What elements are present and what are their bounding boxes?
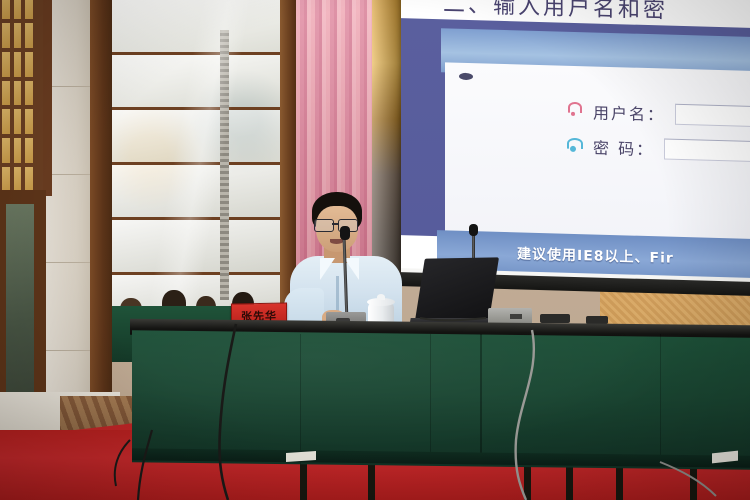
wall-pilaster [46, 0, 90, 420]
glass-partition-wall [112, 0, 280, 320]
microphone-head [340, 226, 350, 240]
skirt-fold [300, 334, 301, 464]
door-glass [6, 204, 34, 404]
wood-mullion-left [90, 0, 112, 430]
skirt-drape-edge [480, 334, 482, 454]
teacup-knob [377, 294, 385, 300]
password-field-row: 密 码： [563, 134, 750, 165]
photo-scene: 二、输入用户名和密 用户名： 密 码： 建议使用IE8以上、Fir [0, 0, 750, 500]
username-label: 用户名： [593, 99, 665, 125]
lattice-grid [2, 0, 33, 192]
slide-content: 二、输入用户名和密 用户名： 密 码： 建议使用IE8以上、Fir [401, 0, 750, 287]
speaker-collar-left [320, 258, 335, 280]
skirt-fold [430, 334, 431, 464]
username-input[interactable] [675, 103, 750, 128]
password-label: 密 码： [593, 134, 654, 160]
browser-recommendation-note: 建议使用IE8以上、Fir [517, 243, 674, 267]
laptop-screen [415, 257, 499, 320]
panel-bullet-icon [459, 73, 473, 80]
username-field-row: 用户名： [563, 99, 750, 130]
tabletop-object [540, 314, 570, 323]
microphone-head-second [469, 224, 478, 236]
lock-icon [563, 137, 583, 156]
glasses-icon [313, 219, 361, 230]
skirt-fold [660, 334, 661, 464]
password-input[interactable] [664, 138, 750, 163]
glass-glare [112, 0, 280, 320]
projection-screen: 二、输入用户名和密 用户名： 密 码： 建议使用IE8以上、Fir [401, 0, 750, 287]
speaker-mouth [330, 239, 343, 244]
person-icon [563, 102, 583, 121]
wood-lattice-panel [0, 0, 52, 196]
